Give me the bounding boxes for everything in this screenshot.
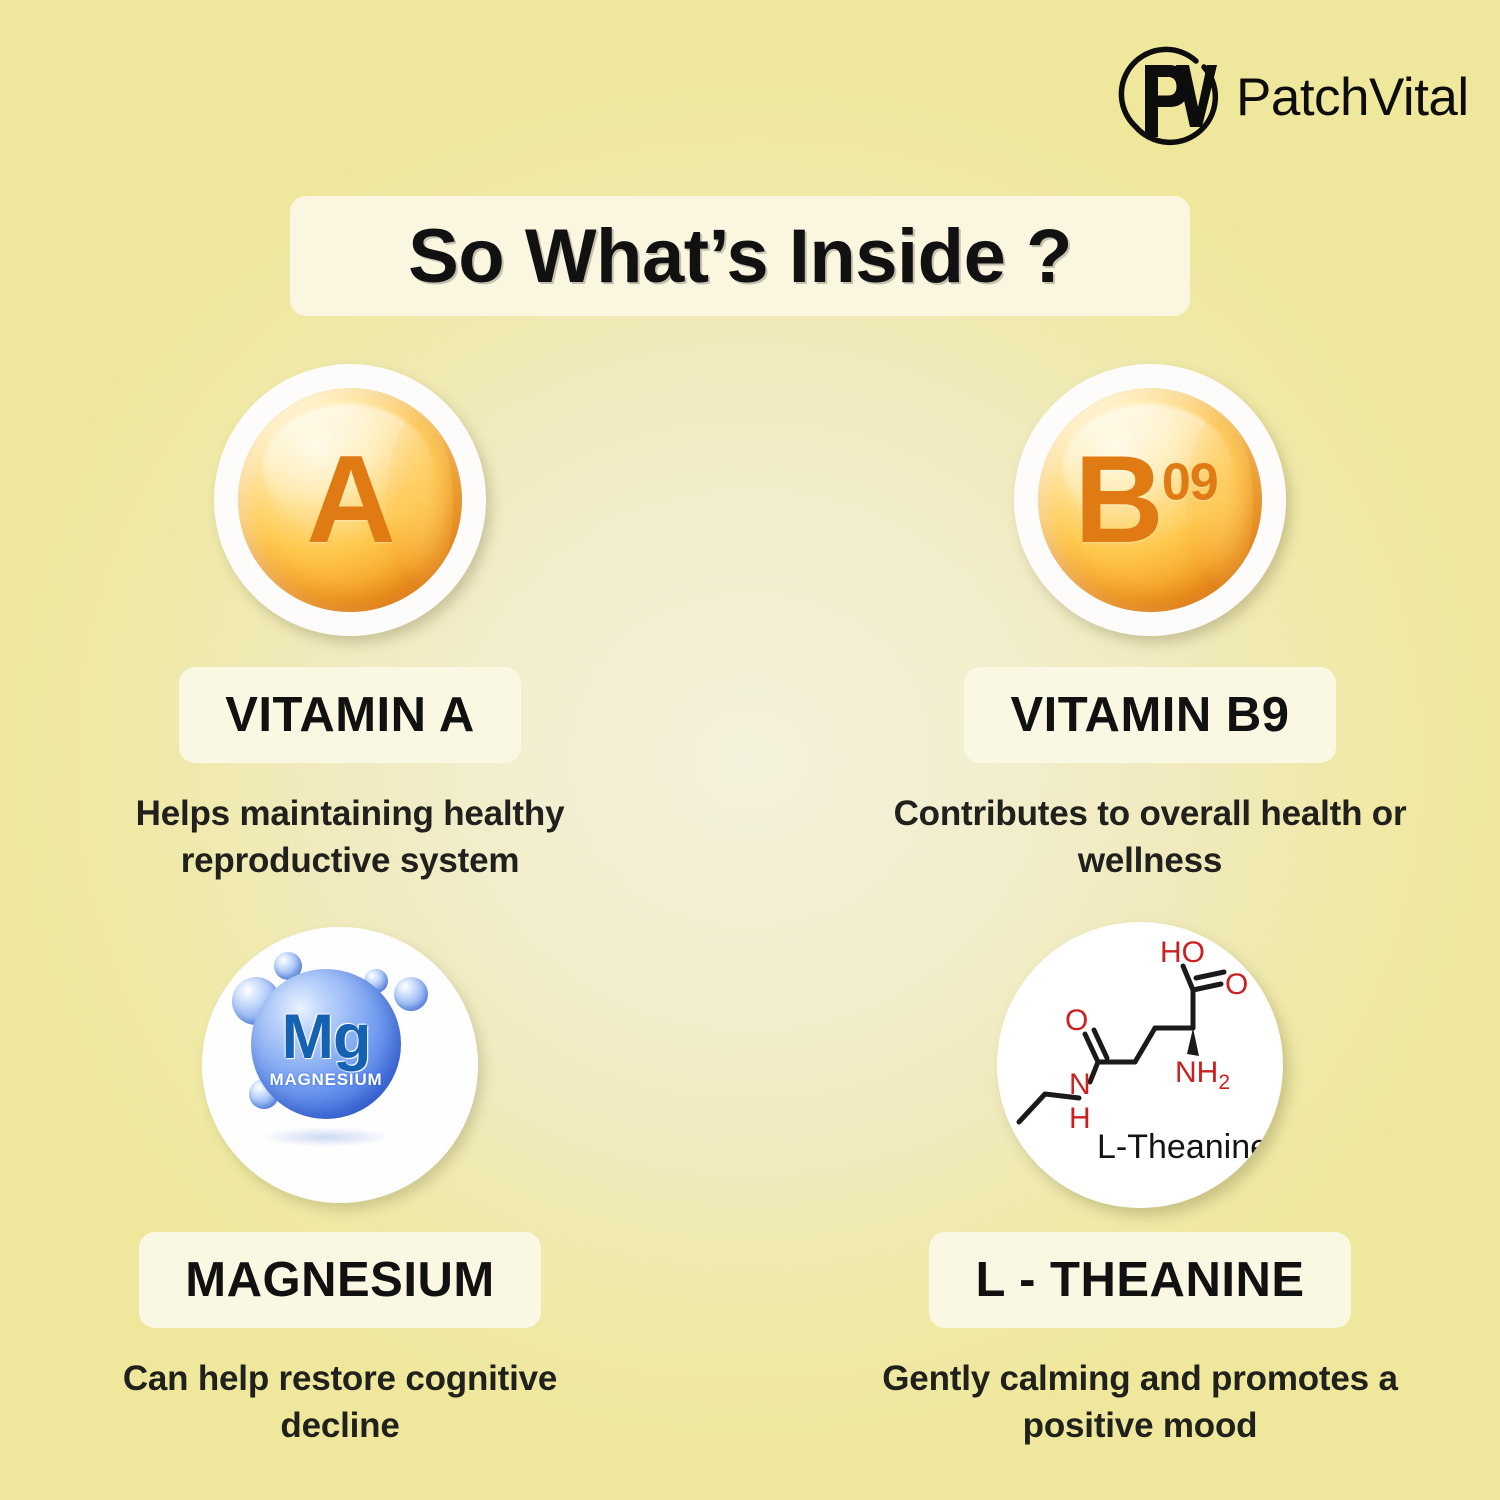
magnesium-molecule-icon: Mg MAGNESIUM [195,920,485,1210]
pill-letter-b: B09 [1074,438,1218,562]
atom-label-hydroxyl: HO [1160,936,1205,969]
page-title: So What’s Inside ? [408,213,1072,300]
atom-label-amine: NH2 [1175,1056,1230,1094]
ingredient-name-box-vitamin-b9: VITAMIN B9 [964,667,1335,763]
pv-monogram-icon [1118,45,1222,149]
ingredient-description-vitamin-a: Helps maintaining healthy reproductive s… [70,791,630,884]
ingredient-name-l-theanine: L - THEANINE [975,1252,1304,1308]
vitamin-b9-pill-icon: B09 [1005,355,1295,645]
ingredient-name-magnesium: MAGNESIUM [185,1252,494,1308]
brand-logo[interactable]: PatchVital [1118,45,1469,149]
ingredient-name-box-magnesium: MAGNESIUM [139,1232,540,1328]
ingredient-name-box-l-theanine: L - THEANINE [929,1232,1350,1328]
ingredient-card-l-theanine: HO O O N H NH2 L-Theanine L - THEANINE G… [820,920,1460,1449]
atom-label-amide-h: H [1069,1102,1091,1135]
bubble-icon [394,977,428,1011]
magnesium-word: MAGNESIUM [270,1070,383,1090]
ingredient-description-vitamin-b9: Contributes to overall health or wellnes… [870,791,1430,884]
vitamin-a-pill-icon: A [205,355,495,645]
atom-label-amide-n: N [1069,1068,1091,1101]
ingredient-name-vitamin-a: VITAMIN A [225,687,474,743]
magnesium-symbol: Mg [282,1008,371,1068]
molecule-label: L-Theanine [1097,1128,1269,1166]
pill-letter-a: A [306,438,394,562]
ingredient-description-l-theanine: Gently calming and promotes a positive m… [860,1356,1420,1449]
pill-superscript-09: 09 [1162,454,1218,512]
brand-name: PatchVital [1236,67,1469,128]
atom-label-carbonyl-left: O [1065,1004,1088,1037]
ingredient-description-magnesium: Can help restore cognitive decline [60,1356,620,1449]
ingredient-name-box-vitamin-a: VITAMIN A [179,667,520,763]
page-title-box: So What’s Inside ? [290,196,1190,316]
ingredient-card-magnesium: Mg MAGNESIUM MAGNESIUM Can help restore … [20,920,660,1449]
atom-label-carbonyl-right: O [1225,968,1248,1001]
l-theanine-structure-icon: HO O O N H NH2 L-Theanine [995,920,1285,1210]
sphere-shadow [260,1127,392,1147]
ingredient-name-vitamin-b9: VITAMIN B9 [1010,687,1289,743]
infographic-page: PatchVital So What’s Inside ? A VITAMIN … [0,0,1500,1500]
ingredient-card-vitamin-b9: B09 VITAMIN B9 Contributes to overall he… [830,355,1470,884]
ingredient-card-vitamin-a: A VITAMIN A Helps maintaining healthy re… [30,355,670,884]
